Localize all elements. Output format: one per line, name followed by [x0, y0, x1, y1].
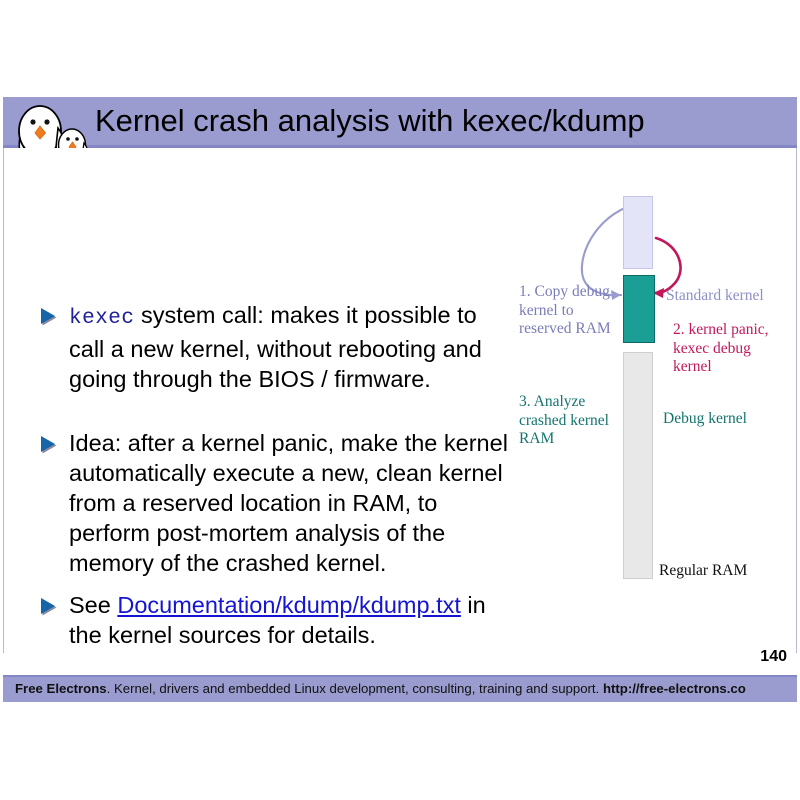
slide: Kernel crash analysis with kexec/kdump: [3, 97, 797, 702]
standard-kernel-block: [623, 196, 653, 269]
footer-text: Free Electrons. Kernel, drivers and embe…: [15, 681, 746, 696]
step-3-annotation: 3. Analyze crashed kernel RAM: [519, 393, 629, 449]
regular-ram-block: [623, 352, 653, 579]
bullet-item-documentation: See Documentation/kdump/kdump.txt in the…: [37, 590, 507, 650]
bullet-text: Idea: after a kernel panic, make the ker…: [69, 428, 517, 578]
kexec-kdump-memory-diagram: 1. Copy debug kernel to reserved RAM 2. …: [501, 177, 797, 657]
bullet-item-kexec: kexec system call: makes it possible to …: [37, 300, 507, 394]
kexec-code-term: kexec: [69, 307, 135, 330]
debug-kernel-label: Debug kernel: [663, 410, 747, 429]
standard-kernel-label: Standard kernel: [666, 287, 764, 306]
see-prefix: See: [69, 592, 117, 618]
bullet-text: kexec system call: makes it possible to …: [69, 300, 507, 394]
footer-url[interactable]: http://free-electrons.co: [603, 681, 746, 696]
bullet-text: See Documentation/kdump/kdump.txt in the…: [69, 590, 507, 650]
triangle-bullet-icon: [37, 306, 59, 328]
triangle-bullet-icon: [37, 596, 59, 618]
page-title: Kernel crash analysis with kexec/kdump: [95, 99, 645, 143]
step-2-annotation: 2. kernel panic, kexec debug kernel: [673, 321, 791, 377]
page-number: 140: [760, 648, 787, 666]
footer-brand: Free Electrons: [15, 681, 107, 696]
bullet-item-idea: Idea: after a kernel panic, make the ker…: [37, 428, 517, 578]
regular-ram-label: Regular RAM: [659, 562, 747, 581]
triangle-bullet-icon: [37, 434, 59, 456]
kdump-doc-link[interactable]: Documentation/kdump/kdump.txt: [117, 592, 461, 618]
debug-kernel-block: [623, 275, 655, 343]
step-1-annotation: 1. Copy debug kernel to reserved RAM: [519, 283, 627, 339]
footer-description: . Kernel, drivers and embedded Linux dev…: [107, 681, 603, 696]
slide-footer: Free Electrons. Kernel, drivers and embe…: [3, 675, 797, 702]
